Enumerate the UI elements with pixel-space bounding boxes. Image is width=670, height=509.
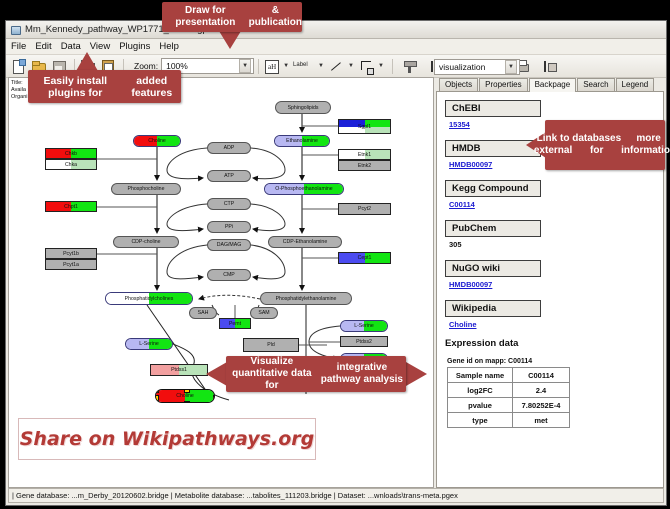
toolbar-separator: [392, 59, 393, 74]
label-icon[interactable]: [293, 58, 315, 75]
menu-item-help[interactable]: Help: [159, 41, 179, 52]
backpage-section-header: Wikipedia: [445, 300, 541, 317]
chevron-down-icon[interactable]: ▼: [348, 63, 354, 69]
menu-item-edit[interactable]: Edit: [35, 41, 51, 52]
tab-backpage[interactable]: Backpage: [529, 78, 577, 92]
pathway-node-etnk1[interactable]: Etnk1: [338, 149, 391, 160]
line-icon[interactable]: [328, 58, 345, 75]
share-text: Share on Wikipathways.org: [20, 428, 314, 450]
table-row: log2FC2.4: [448, 383, 570, 398]
node-label: Etnk2: [339, 163, 390, 169]
expression-key: type: [448, 413, 513, 428]
backpage-section-header: ChEBI: [445, 100, 541, 117]
pathway-node-phosphatidylethanolamine[interactable]: Phosphatidylethanolamine: [260, 292, 352, 305]
status-text: | Gene database: ...m_Derby_20120602.bri…: [12, 491, 458, 500]
pathway-node-adp[interactable]: ADP: [207, 142, 251, 154]
pathway-node-ctp[interactable]: CTP: [207, 198, 251, 210]
node-label: Ptdss2: [341, 339, 387, 345]
chevron-down-icon[interactable]: ▼: [505, 60, 517, 74]
node-label: Sphingolipids: [276, 105, 330, 111]
node-label: Chkb: [46, 151, 96, 157]
backpage-external-link[interactable]: C00114: [449, 200, 663, 209]
node-label: ADP: [208, 145, 250, 151]
pathway-node-cmp[interactable]: CMP: [207, 269, 251, 281]
pathway-node-phosphatidylcholines[interactable]: Phosphatidylcholines: [105, 292, 193, 305]
pathway-node-atp[interactable]: ATP: [207, 170, 251, 182]
node-label: L-Serine: [341, 323, 387, 329]
pathway-node-pcyt2[interactable]: Pcyt2: [338, 203, 391, 215]
expression-value: met: [513, 413, 570, 428]
callout-plugins: Easily install plugins foradded features: [28, 70, 181, 103]
backpage-external-link[interactable]: HMDB00097: [449, 280, 663, 289]
status-bar: | Gene database: ...m_Derby_20120602.bri…: [8, 488, 664, 503]
pathway-node-pld1[interactable]: Pld: [243, 338, 299, 352]
pathway-node-o-phosphoethanolamine[interactable]: O-Phosphoethanolamine: [264, 183, 344, 195]
pathway-node-pemt[interactable]: Pemt: [219, 318, 251, 329]
pathway-node-ppi[interactable]: PPi: [207, 221, 251, 233]
pathway-node-cdp-choline[interactable]: CDP-choline: [113, 236, 179, 248]
canvas-info-title: Title:: [11, 80, 28, 87]
node-label: Sgpl1: [339, 124, 390, 130]
canvas-info-availability: Availa: [11, 87, 28, 94]
pathway-node-pcyt1a[interactable]: Pcyt1a: [45, 259, 97, 270]
backpage-section-header: Kegg Compound: [445, 180, 541, 197]
new-file-icon[interactable]: [10, 58, 27, 75]
table-row: pvalue7.80252E-4: [448, 398, 570, 413]
menu-bar: File Edit Data View Plugins Help: [6, 39, 666, 55]
callout-visualize-arrow-right-icon: [406, 362, 427, 386]
node-label: SAM: [251, 310, 277, 316]
callout-visualize: Visualize quantitative data forintegrati…: [226, 356, 406, 392]
callout-draw-arrow-icon: [219, 31, 241, 49]
backpage-section-header: NuGO wiki: [445, 260, 541, 277]
expression-data-header: Expression data: [445, 338, 663, 349]
backpage-section-value: 305: [449, 240, 663, 249]
pathway-node-chpt1[interactable]: Chpt1: [45, 201, 97, 212]
node-label: O-Phosphoethanolamine: [265, 186, 343, 192]
callout-visualize-arrow-left-icon: [206, 362, 227, 386]
pathway-node-ptdss1[interactable]: Ptdss1: [150, 364, 208, 376]
align-center-icon[interactable]: [401, 58, 418, 75]
table-row: typemet: [448, 413, 570, 428]
node-label: Pcyt2: [339, 206, 390, 212]
pathway-node-phosphocholine[interactable]: Phosphocholine: [111, 183, 181, 195]
node-label: Etnk1: [339, 152, 390, 158]
node-label: PPi: [208, 224, 250, 230]
node-label: DAG/MAG: [208, 242, 250, 248]
node-label: Pld: [244, 342, 298, 348]
tab-properties[interactable]: Properties: [479, 78, 527, 91]
selection-handle[interactable]: [155, 389, 159, 393]
pathway-node-chkb[interactable]: Chkb: [45, 148, 97, 159]
menu-item-file[interactable]: File: [11, 41, 26, 52]
node-label: Phosphatidylethanolamine: [261, 296, 351, 302]
toolbar-separator: [258, 59, 259, 74]
menu-item-data[interactable]: Data: [61, 41, 81, 52]
order-icon[interactable]: [541, 58, 558, 75]
chevron-down-icon[interactable]: ▼: [378, 63, 384, 69]
pathway-node-etnk2[interactable]: Etnk2: [338, 160, 391, 171]
backpage-external-link[interactable]: Choline: [449, 320, 663, 329]
connector-icon[interactable]: [358, 58, 375, 75]
expression-key: pvalue: [448, 398, 513, 413]
node-label: CTP: [208, 201, 250, 207]
pathway-node-l-serine-right[interactable]: L-Serine: [340, 320, 388, 332]
node-label: L-Serine: [126, 341, 172, 347]
chevron-down-icon[interactable]: ▼: [318, 63, 324, 69]
menu-item-view[interactable]: View: [90, 41, 110, 52]
chevron-down-icon[interactable]: ▼: [239, 59, 251, 73]
pathway-node-l-serine-left[interactable]: L-Serine: [125, 338, 173, 350]
node-label: ATP: [208, 173, 250, 179]
pathway-node-choline-selected[interactable]: Choline: [155, 389, 215, 403]
pathway-node-ethanolamine-top[interactable]: Ethanolamine: [274, 135, 330, 147]
node-label: CDP-Ethanolamine: [269, 239, 341, 245]
expression-value: 2.4: [513, 383, 570, 398]
node-label: Phosphocholine: [112, 186, 180, 192]
expression-key: log2FC: [448, 383, 513, 398]
node-label: Choline: [156, 393, 214, 399]
app-icon: [10, 24, 21, 35]
tab-legend[interactable]: Legend: [616, 78, 655, 91]
pathway-node-sphingolipids[interactable]: Sphingolipids: [275, 101, 331, 114]
node-label: Choline: [134, 138, 180, 144]
menu-item-plugins[interactable]: Plugins: [119, 41, 150, 52]
node-label: Ptdss1: [151, 367, 207, 373]
pathway-node-chka[interactable]: Chka: [45, 159, 97, 170]
node-label: Chpt1: [46, 204, 96, 210]
canvas-info-organism: Organi: [11, 94, 28, 101]
node-label: Ethanolamine: [275, 138, 329, 144]
node-label: Phosphatidylcholines: [106, 296, 192, 302]
pathway-node-pcyt1b[interactable]: Pcyt1b: [45, 248, 97, 259]
canvas-info-block: Title: Availa Organi: [11, 80, 28, 101]
tab-search[interactable]: Search: [577, 78, 614, 91]
text-format-icon[interactable]: [263, 58, 280, 75]
title-bar: Mm_Kennedy_pathway_WP1771_45176.gpml: [6, 21, 666, 39]
node-label: Pemt: [220, 321, 250, 327]
pathway-node-dag-mag[interactable]: DAG/MAG: [207, 239, 251, 251]
pathway-node-choline-top[interactable]: Choline: [133, 135, 181, 147]
expression-value: 7.80252E-4: [513, 398, 570, 413]
visualization-combo[interactable]: visualization ▼: [434, 59, 520, 75]
screenshot-root: Mm_Kennedy_pathway_WP1771_45176.gpml Fil…: [0, 0, 670, 509]
node-label: Pcyt1a: [46, 262, 96, 268]
pathway-node-ptdss2[interactable]: Ptdss2: [340, 336, 388, 347]
node-label: Chka: [46, 162, 96, 168]
node-label: CMP: [208, 272, 250, 278]
expression-value: C00114: [513, 368, 570, 383]
callout-share: Share on Wikipathways.org: [18, 418, 316, 460]
pathway-node-sam[interactable]: SAM: [250, 307, 278, 319]
selection-handle[interactable]: [184, 389, 190, 393]
panel-tab-strip: Objects Properties Backpage Search Legen…: [436, 77, 664, 92]
pathway-node-sah[interactable]: SAH: [189, 307, 217, 319]
expression-key: Sample name: [448, 368, 513, 383]
node-label: Cept1: [339, 255, 390, 261]
pathway-node-cdp-ethanolamine[interactable]: CDP-Ethanolamine: [268, 236, 342, 248]
visualization-value: visualization: [439, 62, 485, 72]
callout-plugins-arrow-icon: [76, 52, 98, 71]
gene-id-label: Gene id on mapp: C00114: [447, 358, 663, 365]
selection-handle[interactable]: [184, 401, 190, 403]
node-label: CDP-choline: [114, 239, 178, 245]
table-row: Sample nameC00114: [448, 368, 570, 383]
node-label: Pcyt1b: [46, 251, 96, 257]
callout-draw: Draw for presentation& publication: [162, 2, 302, 32]
pathway-node-sgpl1[interactable]: Sgpl1: [338, 119, 391, 134]
expression-table: Sample nameC00114log2FC2.4pvalue7.80252E…: [447, 367, 570, 428]
backpage-section-header: PubChem: [445, 220, 541, 237]
node-label: SAH: [190, 310, 216, 316]
callout-link: Link to externaldatabases formore inform…: [545, 120, 665, 170]
tab-objects[interactable]: Objects: [439, 78, 478, 91]
chevron-down-icon[interactable]: ▼: [283, 63, 289, 69]
pathway-node-cept1[interactable]: Cept1: [338, 252, 391, 264]
